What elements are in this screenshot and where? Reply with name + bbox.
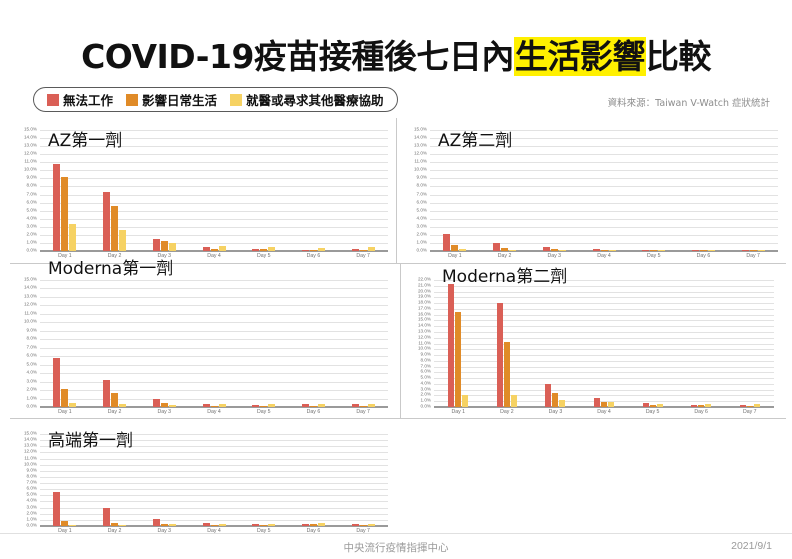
bar (758, 250, 765, 251)
chart-panel-moderna-dose-1: Moderna第一劑0.0%1.0%2.0%3.0%4.0%5.0%6.0%7.… (14, 268, 392, 416)
bar-group (629, 130, 679, 251)
bar (169, 405, 176, 407)
y-axis-tick-label: 14.0% (414, 136, 427, 141)
footer-organization: 中央流行疫情指揮中心 (0, 540, 792, 555)
bar (153, 239, 160, 251)
x-axis-tick-label: Day 1 (434, 409, 483, 415)
y-axis-tick-label: 5.0% (27, 362, 37, 367)
slide-root: COVID-19疫苗接種後七日內生活影響比較 無法工作影響日常生活就醫或尋求其他… (0, 0, 792, 559)
y-axis-tick-label: 15.0% (24, 278, 37, 283)
y-axis-tick-label: 2.0% (27, 388, 37, 393)
bar-group (239, 130, 289, 251)
y-axis-tick-label: 3.0% (27, 225, 37, 230)
y-axis-tick-label: 10.0% (24, 168, 37, 173)
bar-group (338, 130, 388, 251)
bar (443, 234, 450, 251)
bar (260, 406, 267, 407)
y-axis-tick-label: 16.0% (418, 312, 431, 317)
y-axis-tick-label: 9.0% (27, 329, 37, 334)
bar (657, 404, 663, 407)
x-axis-tick-label: Day 4 (579, 253, 629, 259)
x-axis-labels: Day 1Day 2Day 3Day 4Day 5Day 6Day 7 (40, 409, 388, 415)
bar (310, 250, 317, 251)
y-axis-tick-label: 12.0% (24, 303, 37, 308)
chart-title-moderna-dose-2: Moderna第二劑 (442, 262, 567, 287)
y-axis-tick-label: 8.0% (27, 184, 37, 189)
y-axis-tick-label: 0.0% (27, 249, 37, 254)
bar (103, 192, 110, 251)
y-axis-tick-label: 3.0% (417, 225, 427, 230)
divider-vertical-top (396, 118, 397, 264)
y-axis-tick-label: 7.0% (421, 364, 431, 369)
bar (559, 250, 566, 251)
bar-group (40, 280, 90, 407)
bar (455, 312, 461, 407)
y-axis-tick-label: 15.0% (24, 432, 37, 437)
y-axis-tick-label: 12.0% (418, 335, 431, 340)
x-axis-tick-label: Day 7 (728, 253, 778, 259)
bar-group (580, 280, 629, 407)
bar (594, 398, 600, 407)
chart-title-medigen-dose-1: 高端第一劑 (48, 426, 133, 451)
x-axis-tick-label: Day 5 (239, 253, 289, 259)
x-axis-tick-label: Day 5 (628, 409, 677, 415)
bar (219, 246, 226, 251)
y-axis-tick-label: 15.0% (24, 128, 37, 133)
y-axis-tick-label: 4.0% (27, 371, 37, 376)
y-axis-tick-label: 0.0% (27, 524, 37, 529)
y-axis-tick-label: 17.0% (418, 307, 431, 312)
x-axis-tick-label: Day 2 (483, 409, 532, 415)
x-axis-tick-label: Day 3 (529, 253, 579, 259)
y-axis-tick-label: 9.0% (27, 469, 37, 474)
legend-swatch-orange (126, 94, 138, 106)
footer-divider (0, 533, 792, 534)
footer-date: 2021/9/1 (731, 540, 772, 552)
page-title-highlight: 生活影響 (514, 37, 646, 76)
y-axis-tick-label: 1.0% (421, 399, 431, 404)
bar (609, 250, 616, 251)
bar (119, 404, 126, 407)
y-axis-tick-label: 11.0% (418, 341, 431, 346)
chart-panel-medigen-dose-1: 高端第一劑0.0%1.0%2.0%3.0%4.0%5.0%6.0%7.0%8.0… (14, 422, 392, 535)
bar (497, 303, 503, 407)
bar (268, 524, 275, 526)
plot-area-az-dose-1: AZ第一劑0.0%1.0%2.0%3.0%4.0%5.0%6.0%7.0%8.0… (14, 118, 392, 260)
y-axis-tick-label: 14.0% (24, 286, 37, 291)
bar (103, 508, 110, 526)
bar (211, 249, 218, 251)
bar (310, 524, 317, 526)
bar (504, 342, 510, 407)
y-axis-tick-label: 11.0% (414, 160, 427, 165)
y-axis-tick-label: 2.0% (417, 233, 427, 238)
bar (742, 250, 749, 251)
y-axis-tick-label: 5.0% (27, 493, 37, 498)
bar-group (139, 434, 189, 526)
bar (448, 284, 454, 407)
legend-item-label: 無法工作 (63, 90, 113, 109)
bar (211, 525, 218, 526)
y-axis-tick-label: 2.0% (421, 393, 431, 398)
bar (153, 519, 160, 526)
bar (360, 525, 367, 526)
bar (302, 404, 309, 407)
y-axis-tick-label: 3.0% (27, 379, 37, 384)
bar-group (289, 130, 339, 251)
bar (543, 247, 550, 251)
bar (203, 404, 210, 407)
y-axis-tick-label: 2.0% (27, 511, 37, 516)
legend-swatch-yellow (230, 94, 242, 106)
bar (650, 250, 657, 251)
bar-groups (434, 280, 774, 407)
legend-item-0: 無法工作 (47, 90, 113, 109)
y-axis-tick-label: 13.0% (418, 330, 431, 335)
chart-title-az-dose-2: AZ第二劑 (438, 126, 512, 151)
bar-group (529, 130, 579, 251)
bar (608, 402, 614, 407)
bar (658, 250, 665, 251)
bar-groups (40, 280, 388, 407)
y-axis-tick-label: 10.0% (24, 462, 37, 467)
y-axis-tick-label: 10.0% (24, 320, 37, 325)
y-axis-tick-label: 7.0% (27, 481, 37, 486)
bar (252, 405, 259, 407)
y-axis-tick-label: 15.0% (418, 318, 431, 323)
bar (750, 250, 757, 251)
y-axis-tick-label: 21.0% (418, 283, 431, 288)
x-axis-tick-label: Day 4 (189, 409, 239, 415)
bar (161, 403, 168, 407)
y-axis-tick-label: 2.0% (27, 233, 37, 238)
y-axis-tick-label: 13.0% (24, 295, 37, 300)
bar (119, 230, 126, 251)
bar (203, 523, 210, 526)
y-axis-tick-label: 1.0% (27, 241, 37, 246)
bar (69, 403, 76, 407)
y-axis-tick-label: 10.0% (414, 168, 427, 173)
plot-area-moderna-dose-2: Moderna第二劑0.0%1.0%2.0%3.0%4.0%5.0%6.0%7.… (408, 268, 778, 416)
y-axis-tick-label: 10.0% (418, 347, 431, 352)
x-axis-tick-label: Day 5 (629, 253, 679, 259)
y-axis-tick-label: 1.0% (27, 518, 37, 523)
bar (318, 404, 325, 407)
bar (368, 404, 375, 407)
y-axis-tick-label: 7.0% (27, 345, 37, 350)
y-axis-tick-label: 4.0% (421, 382, 431, 387)
x-axis-tick-label: Day 6 (679, 253, 729, 259)
y-axis-tick-label: 5.0% (421, 376, 431, 381)
bar (642, 250, 649, 251)
bar (643, 403, 649, 407)
x-axis-tick-label: Day 4 (580, 409, 629, 415)
bar-group (338, 434, 388, 526)
bar (705, 404, 711, 407)
y-axis-tick-label: 14.0% (24, 136, 37, 141)
bar-group (189, 130, 239, 251)
bar-group (434, 280, 483, 407)
x-axis-tick-label: Day 5 (239, 409, 289, 415)
x-axis-tick-label: Day 6 (289, 409, 339, 415)
x-axis-tick-label: Day 1 (430, 253, 480, 259)
x-axis-tick-label: Day 1 (40, 409, 90, 415)
y-axis-tick-label: 5.0% (417, 208, 427, 213)
bar-group (677, 280, 726, 407)
y-axis-tick-label: 13.0% (414, 144, 427, 149)
bar (462, 395, 468, 407)
x-axis-tick-label: Day 6 (677, 409, 726, 415)
y-axis-tick-label: 1.0% (27, 396, 37, 401)
data-source-note: 資料來源：Taiwan V-Watch 症狀統計 (608, 95, 770, 109)
y-axis-tick-label: 13.0% (24, 444, 37, 449)
bar (53, 164, 60, 251)
bar (552, 393, 558, 407)
page-title-part-1: COVID-19疫苗接種後七日內 (81, 37, 514, 76)
y-axis-tick-label: 6.0% (417, 200, 427, 205)
y-axis-tick-label: 6.0% (27, 200, 37, 205)
chart-title-az-dose-1: AZ第一劑 (48, 126, 122, 151)
y-axis-tick-label: 6.0% (27, 487, 37, 492)
bar (211, 406, 218, 407)
bar (691, 405, 697, 407)
legend-swatch-red (47, 94, 59, 106)
bar (352, 404, 359, 407)
bar (153, 399, 160, 407)
x-axis-labels: Day 1Day 2Day 3Day 4Day 5Day 6Day 7 (434, 409, 774, 415)
bar-group (725, 280, 774, 407)
y-axis-tick-label: 12.0% (24, 450, 37, 455)
y-axis-tick-label: 4.0% (27, 499, 37, 504)
bar-group (139, 280, 189, 407)
y-axis-tick-label: 6.0% (27, 354, 37, 359)
bar (61, 521, 68, 526)
bar (169, 243, 176, 251)
y-axis-tick-label: 15.0% (414, 128, 427, 133)
bar-group (338, 280, 388, 407)
bar (111, 393, 118, 407)
legend-item-2: 就醫或尋求其他醫療協助 (230, 90, 384, 109)
bar (53, 492, 60, 526)
bar-group (189, 280, 239, 407)
y-axis-tick-label: 20.0% (418, 289, 431, 294)
y-axis-tick-label: 19.0% (418, 295, 431, 300)
bar-group (90, 280, 140, 407)
legend-item-1: 影響日常生活 (126, 90, 217, 109)
bar (459, 249, 466, 251)
bar-group (239, 280, 289, 407)
bar (252, 524, 259, 526)
bar (111, 206, 118, 251)
bar (551, 249, 558, 251)
x-axis-tick-label: Day 3 (139, 409, 189, 415)
bar (601, 250, 608, 251)
bar (708, 250, 715, 251)
y-axis-tick-label: 22.0% (418, 278, 431, 283)
bar (302, 524, 309, 526)
y-axis-tick-label: 3.0% (421, 387, 431, 392)
x-axis-tick-label: Day 3 (531, 409, 580, 415)
chart-panel-az-dose-1: AZ第一劑0.0%1.0%2.0%3.0%4.0%5.0%6.0%7.0%8.0… (14, 118, 392, 260)
bar (318, 248, 325, 251)
bar (268, 404, 275, 407)
y-axis-tick-label: 9.0% (27, 176, 37, 181)
y-axis-tick-label: 3.0% (27, 505, 37, 510)
bar-group (289, 434, 339, 526)
bar (69, 224, 76, 251)
bar (360, 406, 367, 407)
bar (501, 248, 508, 251)
chart-title-moderna-dose-1: Moderna第一劑 (48, 254, 173, 279)
y-axis-tick-label: 7.0% (417, 192, 427, 197)
y-axis-tick-label: 9.0% (417, 176, 427, 181)
y-axis-tick-label: 11.0% (24, 312, 37, 317)
bar (260, 525, 267, 526)
bar-group (189, 434, 239, 526)
bar-group (728, 130, 778, 251)
bar (69, 525, 76, 526)
y-axis-tick-label: 1.0% (417, 241, 427, 246)
bar (509, 250, 516, 251)
bar (161, 524, 168, 526)
x-axis-tick-label: Day 7 (338, 253, 388, 259)
bar (511, 395, 517, 407)
x-axis-tick-label: Day 2 (90, 409, 140, 415)
plot-area-moderna-dose-1: Moderna第一劑0.0%1.0%2.0%3.0%4.0%5.0%6.0%7.… (14, 268, 392, 416)
bar-group (628, 280, 677, 407)
y-axis-tick-label: 11.0% (24, 456, 37, 461)
y-axis-tick-label: 12.0% (414, 152, 427, 157)
bar (593, 249, 600, 251)
bar (61, 389, 68, 407)
legend-item-label: 就醫或尋求其他醫療協助 (246, 90, 384, 109)
y-axis-tick-label: 11.0% (24, 160, 37, 165)
x-axis-tick-label: Day 7 (338, 409, 388, 415)
bar (360, 250, 367, 251)
page-title: COVID-19疫苗接種後七日內生活影響比較 (0, 30, 792, 78)
y-axis-tick-label: 8.0% (421, 359, 431, 364)
bar-group (289, 280, 339, 407)
bar (219, 404, 226, 407)
y-axis-tick-label: 0.0% (417, 249, 427, 254)
chart-panel-az-dose-2: AZ第二劑0.0%1.0%2.0%3.0%4.0%5.0%6.0%7.0%8.0… (404, 118, 782, 260)
bar (61, 177, 68, 251)
bar (161, 241, 168, 251)
bar (318, 523, 325, 526)
bar (310, 406, 317, 407)
bar (700, 250, 707, 251)
bar (451, 245, 458, 251)
x-axis-tick-label: Day 6 (289, 253, 339, 259)
plot-area-medigen-dose-1: 高端第一劑0.0%1.0%2.0%3.0%4.0%5.0%6.0%7.0%8.0… (14, 422, 392, 535)
y-axis-tick-label: 9.0% (421, 353, 431, 358)
page-title-part-2: 比較 (646, 37, 711, 76)
bar (111, 523, 118, 526)
y-axis-tick-label: 8.0% (27, 475, 37, 480)
bar (368, 247, 375, 251)
y-axis-tick-label: 18.0% (418, 301, 431, 306)
x-axis-labels: Day 1Day 2Day 3Day 4Day 5Day 6Day 7 (430, 253, 778, 259)
plot-area-az-dose-2: AZ第二劑0.0%1.0%2.0%3.0%4.0%5.0%6.0%7.0%8.0… (404, 118, 782, 260)
bar (53, 358, 60, 407)
bar-group (679, 130, 729, 251)
bar (368, 524, 375, 526)
legend: 無法工作影響日常生活就醫或尋求其他醫療協助 (33, 87, 398, 112)
y-axis-tick-label: 0.0% (421, 405, 431, 410)
y-axis-tick-label: 13.0% (24, 144, 37, 149)
divider-vertical-middle (400, 263, 401, 418)
y-axis-tick-label: 14.0% (24, 438, 37, 443)
bar (352, 249, 359, 251)
bar (103, 380, 110, 407)
y-axis-tick-label: 8.0% (417, 184, 427, 189)
bar-group (531, 280, 580, 407)
y-axis-tick-label: 0.0% (27, 405, 37, 410)
legend-item-label: 影響日常生活 (142, 90, 217, 109)
y-axis-tick-label: 12.0% (24, 152, 37, 157)
bar (352, 524, 359, 526)
y-axis-tick-label: 4.0% (27, 216, 37, 221)
bar (601, 402, 607, 407)
bar (169, 524, 176, 526)
bar (650, 405, 656, 407)
bar (692, 250, 699, 251)
bar (252, 249, 259, 251)
bar (747, 406, 753, 407)
y-axis-tick-label: 7.0% (27, 192, 37, 197)
bar (203, 247, 210, 251)
bar (302, 250, 309, 251)
bar (754, 404, 760, 407)
y-axis-tick-label: 8.0% (27, 337, 37, 342)
chart-panel-moderna-dose-2: Moderna第二劑0.0%1.0%2.0%3.0%4.0%5.0%6.0%7.… (408, 268, 778, 416)
bar (260, 249, 267, 251)
bar (545, 384, 551, 407)
x-axis-tick-label: Day 7 (725, 409, 774, 415)
bar (493, 243, 500, 251)
x-axis-tick-label: Day 2 (480, 253, 530, 259)
bar-group (139, 130, 189, 251)
y-axis-tick-label: 14.0% (418, 324, 431, 329)
bar-group (483, 280, 532, 407)
y-axis-tick-label: 6.0% (421, 370, 431, 375)
bar-group (579, 130, 629, 251)
bar (219, 524, 226, 526)
y-axis-tick-label: 4.0% (417, 216, 427, 221)
bar (698, 405, 704, 407)
y-axis-tick-label: 5.0% (27, 208, 37, 213)
divider-horizontal-lower (10, 418, 786, 419)
bar (268, 247, 275, 251)
bar (559, 400, 565, 407)
x-axis-tick-label: Day 4 (189, 253, 239, 259)
bar (119, 525, 126, 526)
bar (740, 405, 746, 407)
bar-group (239, 434, 289, 526)
